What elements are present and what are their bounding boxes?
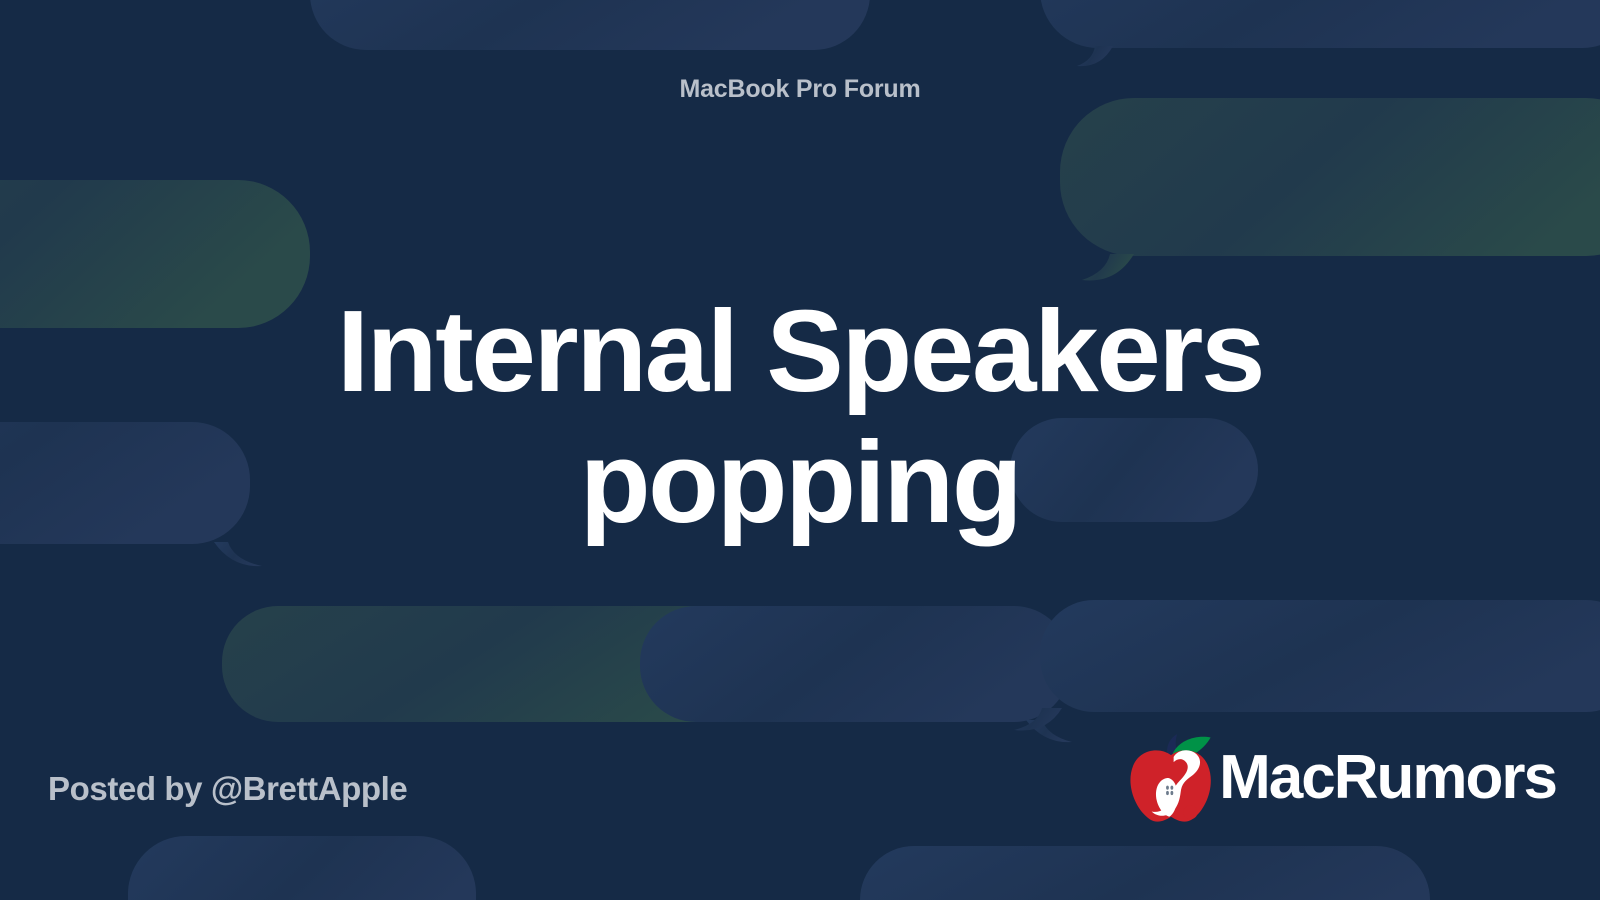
bubble-bottom-mid	[640, 606, 1072, 742]
bubble-bottom-right	[1014, 600, 1600, 731]
macrumors-apple-icon	[1127, 732, 1215, 824]
bubble-footer-left	[128, 836, 476, 900]
forum-share-card: MacBook Pro Forum Internal Speakers popp…	[0, 0, 1600, 900]
title-container: Internal Speakers popping	[150, 286, 1450, 548]
forum-label: MacBook Pro Forum	[0, 75, 1600, 104]
page-title: Internal Speakers popping	[150, 286, 1450, 548]
brand-name: MacRumors	[1219, 747, 1556, 809]
posted-by-label: Posted by @BrettApple	[48, 770, 407, 808]
bubble-right-green	[1060, 98, 1600, 280]
brand-lockup: MacRumors	[1127, 732, 1556, 824]
bubble-bottom-left	[222, 606, 812, 722]
bubble-top-right	[1040, 0, 1600, 66]
bubble-top-center	[310, 0, 870, 50]
bubble-footer-right	[860, 846, 1430, 900]
question-mark-dot	[1183, 805, 1197, 819]
